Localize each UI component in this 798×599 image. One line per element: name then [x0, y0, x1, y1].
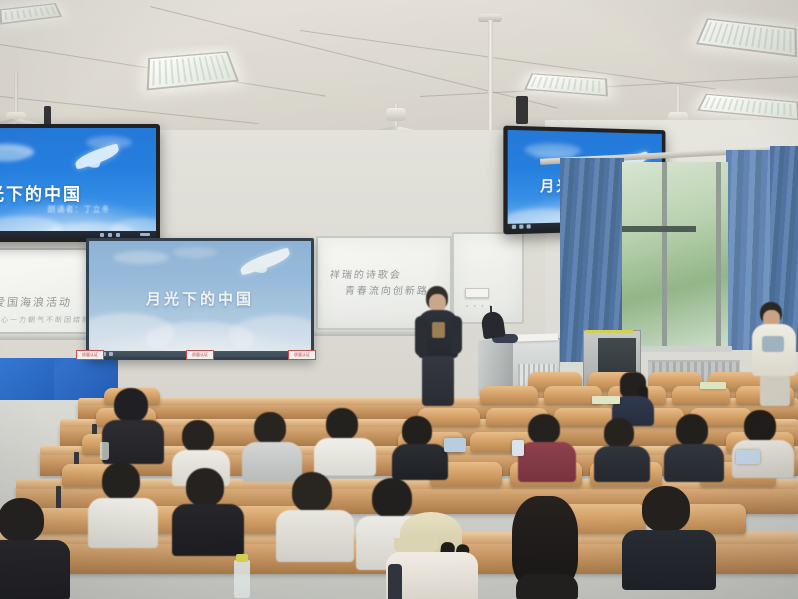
- student-torso: [314, 438, 376, 476]
- student-head: [372, 478, 412, 518]
- student-tablet[interactable]: [736, 450, 760, 464]
- water-bottle[interactable]: [234, 560, 250, 598]
- notice-board-blue-secondary: [0, 358, 54, 402]
- display-left-tv[interactable]: 月光下的中国 朗诵者：丁立冬: [0, 124, 160, 242]
- student-head: [102, 462, 140, 500]
- student-tablet[interactable]: [444, 438, 466, 452]
- student-head: [744, 410, 776, 442]
- student-head: [604, 418, 634, 448]
- whiteboard-handwriting-line1: 祥瑞的诗歌会: [329, 266, 403, 281]
- water-bottle[interactable]: [100, 442, 109, 460]
- projection-screen: 月光下的中国: [86, 238, 314, 360]
- student-head: [292, 472, 332, 512]
- left-tv-screen: 月光下的中国 朗诵者：丁立冬: [0, 128, 156, 238]
- seat-back[interactable]: [480, 386, 538, 404]
- student-phone[interactable]: [512, 440, 524, 456]
- book-on-desk: [700, 382, 726, 389]
- wall-sign: [465, 288, 489, 298]
- student-legs: [760, 376, 790, 406]
- ceiling-mount-bracket: [516, 96, 528, 124]
- student-head: [402, 416, 432, 446]
- student-head: [0, 498, 44, 542]
- presenter-arm-right: [450, 316, 462, 354]
- left-whiteboard-line1: 爱国海浪活动: [0, 294, 73, 310]
- student-torso: [242, 442, 302, 482]
- student-head: [676, 414, 708, 446]
- student-head: [182, 420, 214, 452]
- student-head: [186, 468, 224, 506]
- bottle-cap: [236, 554, 248, 562]
- student-torso: [0, 540, 70, 599]
- ceiling-fan-motor: [386, 108, 406, 121]
- presenter-legs: [422, 356, 454, 406]
- student-torso: [172, 504, 244, 556]
- student-torso: [622, 530, 716, 590]
- student-tshirt-graphic: [762, 336, 784, 352]
- left-tv-slide-title: 月光下的中国: [0, 180, 134, 205]
- student-torso: [518, 442, 576, 482]
- left-tv-slide-subtitle: 朗诵者：丁立冬: [0, 204, 156, 215]
- book-on-desk: [592, 396, 620, 404]
- window-mullion-horizontal: [622, 226, 696, 232]
- student-torso: [594, 446, 650, 482]
- quality-label: 质量认证: [76, 350, 104, 360]
- left-tv-slide: 月光下的中国 朗诵者：丁立冬: [0, 128, 156, 238]
- student-head: [642, 486, 690, 532]
- student-head: [114, 388, 148, 422]
- student-head: [528, 414, 560, 444]
- student-torso: [664, 444, 724, 482]
- left-tv-taskbar[interactable]: [0, 231, 156, 238]
- server-rack-label-strip: [585, 330, 633, 333]
- window-mullion-vertical: [716, 162, 721, 350]
- classroom-photo-scene: 祥瑞的诗歌会 青春流向创新路 • • • • 爱国海浪活动 一心一力朝气不断团结…: [0, 0, 798, 599]
- student-torso: [392, 444, 448, 480]
- presenter-arm-left: [415, 316, 427, 356]
- window-glass: [622, 162, 728, 350]
- student-torso: [102, 420, 164, 464]
- presenter-phone[interactable]: [432, 322, 445, 338]
- student-head: [326, 408, 358, 440]
- window-mullion-vertical: [662, 162, 667, 350]
- quality-label: 质量认证: [288, 350, 316, 360]
- whiteboard-handwriting-line2: 青春流向创新路: [344, 282, 430, 297]
- ceiling-fan-rod: [14, 72, 18, 116]
- backpack-strap: [388, 564, 402, 599]
- quality-label: 质量认证: [186, 350, 214, 360]
- projection-slide-title: 月光下的中国: [89, 288, 311, 309]
- student-torso: [516, 574, 578, 599]
- student-torso: [88, 498, 158, 548]
- projection-slide: 月光下的中国: [89, 241, 311, 357]
- student-head: [254, 412, 286, 444]
- student-torso: [276, 510, 354, 562]
- whiteboard-right-panel: [452, 232, 524, 324]
